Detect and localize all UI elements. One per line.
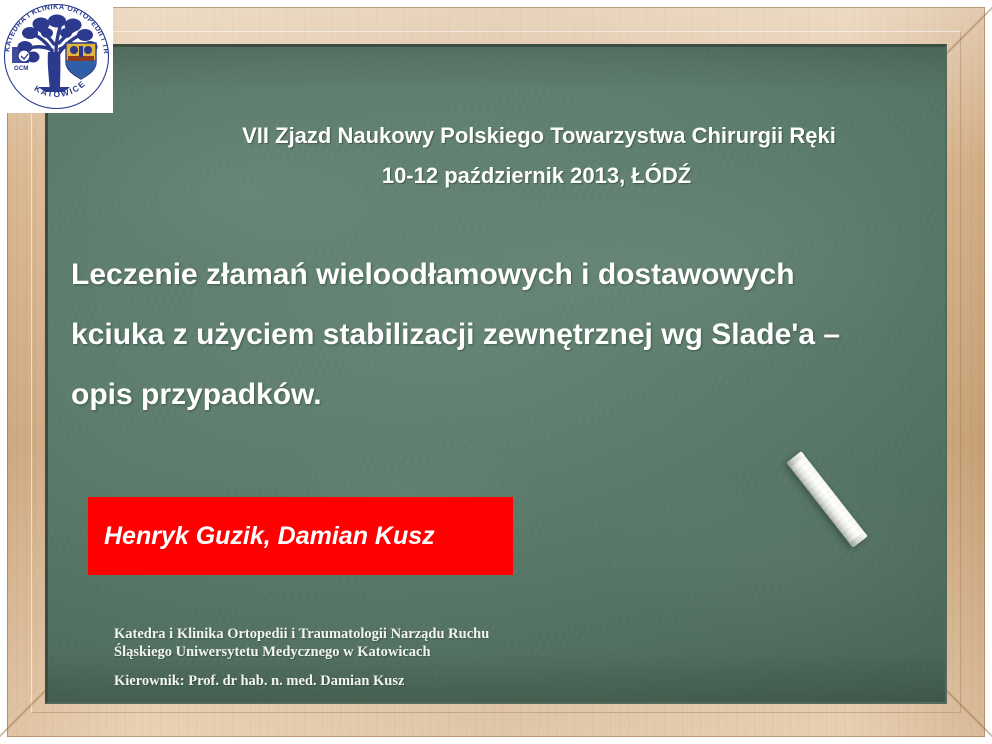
title-line-2: kciuka z użyciem stabilizacji zewnętrzne… <box>71 305 911 365</box>
conference-header: VII Zjazd Naukowy Polskiego Towarzystwa … <box>48 121 947 191</box>
logo-tree-trunk <box>48 52 61 92</box>
authors-names: Henryk Guzik, Damian Kusz <box>88 522 435 551</box>
title-line-1: Leczenie złamań wieloodłamowych i dostaw… <box>71 245 911 305</box>
logo-gcm-mark: GCM <box>12 47 30 72</box>
presentation-title: Leczenie złamań wieloodłamowych i dostaw… <box>71 245 911 425</box>
presentation-slide: VII Zjazd Naukowy Polskiego Towarzystwa … <box>0 0 992 744</box>
affiliation-line-1: Katedra i Klinika Ortopedii i Traumatolo… <box>114 625 734 643</box>
institution-logo-graphic: KATEDRA I KLINIKA ORTOPEDII I TRAUMATOLO… <box>0 0 113 113</box>
affiliation-head-line: Kierownik: Prof. dr hab. n. med. Damian … <box>114 672 734 690</box>
chalk-stick <box>786 451 867 548</box>
title-line-3: opis przypadków. <box>71 365 911 425</box>
footer-spacer <box>114 661 734 672</box>
affiliation-footer: Katedra i Klinika Ortopedii i Traumatolo… <box>114 625 734 690</box>
authors-banner: Henryk Guzik, Damian Kusz <box>88 497 513 575</box>
institution-logo: KATEDRA I KLINIKA ORTOPEDII I TRAUMATOLO… <box>0 0 113 113</box>
logo-gcm-label: GCM <box>14 65 28 72</box>
affiliation-line-2: Śląskiego Uniwersytetu Medycznego w Kato… <box>114 643 734 661</box>
conference-date-location: 10-12 październik 2013, ŁÓDŹ <box>48 161 947 191</box>
chalk-texture <box>786 451 867 548</box>
chalkboard: VII Zjazd Naukowy Polskiego Towarzystwa … <box>45 44 947 704</box>
conference-title: VII Zjazd Naukowy Polskiego Towarzystwa … <box>48 121 947 151</box>
